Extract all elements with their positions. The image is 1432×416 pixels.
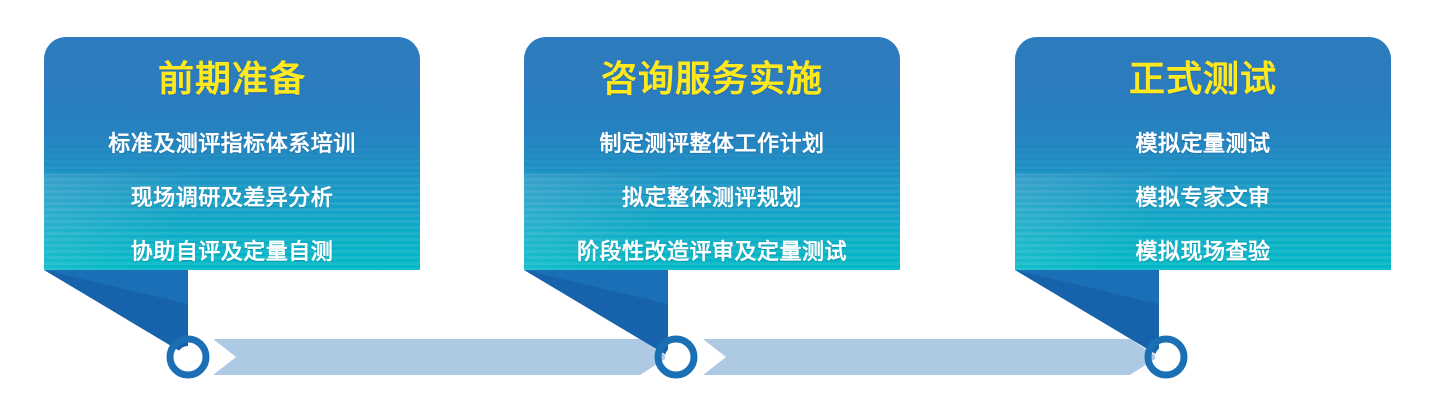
step-line: 模拟专家文审 bbox=[1021, 187, 1385, 209]
process-flow-diagram: 前期准备 标准及测评指标体系培训 现场调研及差异分析 协助自评及定量自测 咨询服 bbox=[0, 0, 1432, 411]
step-line: 制定测评整体工作计划 bbox=[530, 133, 894, 155]
step-title-3: 正式测试 bbox=[1015, 59, 1391, 99]
step-line: 拟定整体测评规划 bbox=[530, 187, 894, 209]
step-node-1[interactable] bbox=[166, 335, 210, 379]
step-line: 协助自评及定量自测 bbox=[50, 241, 414, 263]
step-title-2: 咨询服务实施 bbox=[524, 59, 900, 99]
step-lines-3: 模拟定量测试 模拟专家文审 模拟现场查验 bbox=[1021, 133, 1385, 263]
step-node-2[interactable] bbox=[654, 335, 698, 379]
step-line: 阶段性改造评审及定量测试 bbox=[530, 241, 894, 263]
step-node-3[interactable] bbox=[1144, 335, 1188, 379]
step-lines-1: 标准及测评指标体系培训 现场调研及差异分析 协助自评及定量自测 bbox=[50, 133, 414, 263]
step-tail-2 bbox=[524, 270, 674, 360]
process-step-1[interactable]: 前期准备 标准及测评指标体系培训 现场调研及差异分析 协助自评及定量自测 bbox=[44, 37, 420, 270]
process-step-2[interactable]: 咨询服务实施 制定测评整体工作计划 拟定整体测评规划 阶段性改造评审及定量测试 bbox=[524, 37, 900, 270]
step-line: 模拟现场查验 bbox=[1021, 241, 1385, 263]
step-line: 现场调研及差异分析 bbox=[50, 187, 414, 209]
process-step-3[interactable]: 正式测试 模拟定量测试 模拟专家文审 模拟现场查验 bbox=[1015, 37, 1391, 270]
step-tail-3 bbox=[1015, 270, 1165, 360]
step-line: 模拟定量测试 bbox=[1021, 133, 1385, 155]
step-line: 标准及测评指标体系培训 bbox=[50, 133, 414, 155]
step-title-1: 前期准备 bbox=[44, 59, 420, 99]
step-lines-2: 制定测评整体工作计划 拟定整体测评规划 阶段性改造评审及定量测试 bbox=[530, 133, 894, 263]
